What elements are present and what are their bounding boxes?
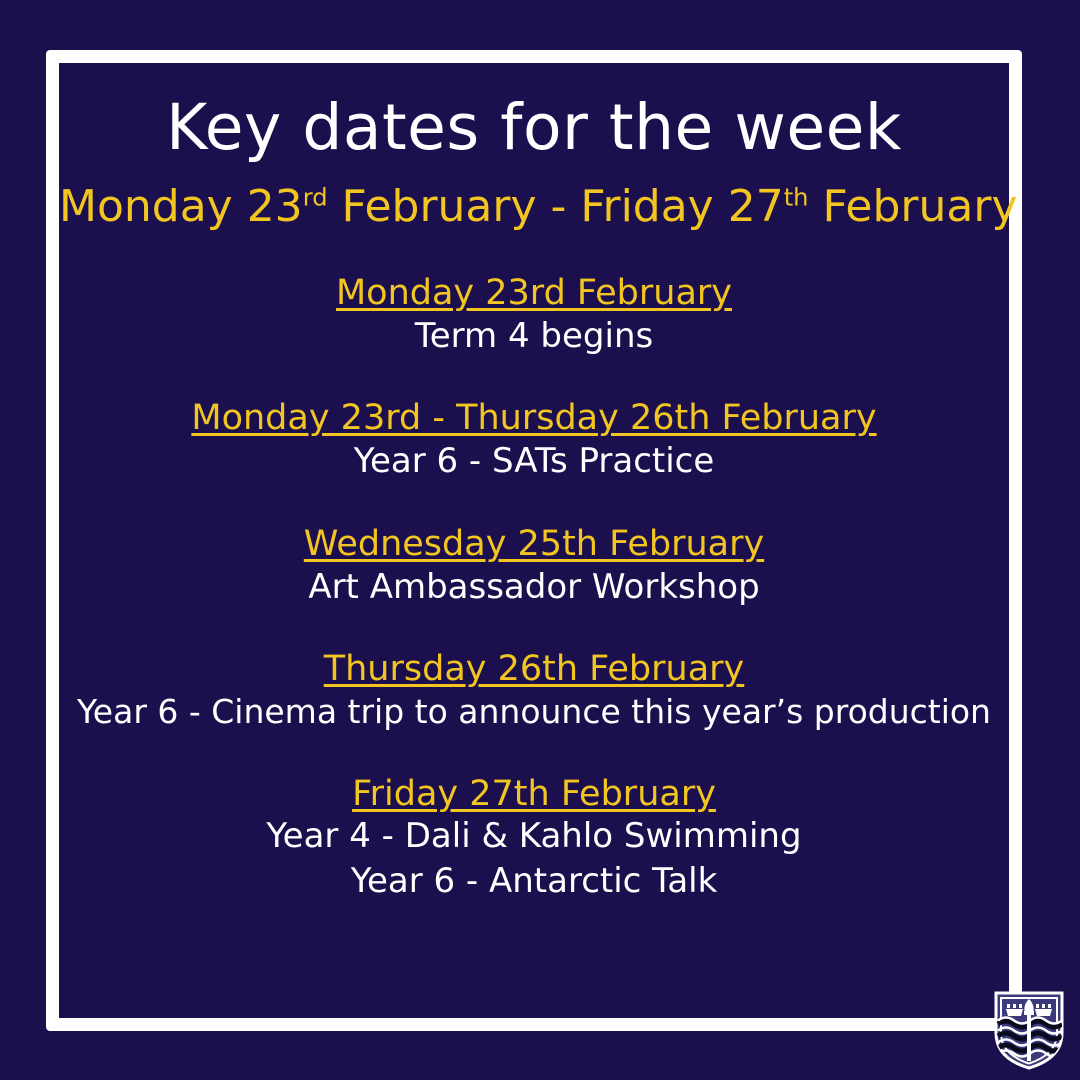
entry-detail-line: Term 4 begins [59, 314, 1009, 359]
entry-detail-line: Year 4 - Dali & Kahlo Swimming [59, 814, 1009, 859]
school-crest-shield-icon [990, 987, 1068, 1073]
entry-detail-line: Art Ambassador Workshop [59, 565, 1009, 610]
list-item: Thursday 26th February Year 6 - Cinema t… [59, 649, 1009, 733]
entry-detail-line: Year 6 - Antarctic Talk [59, 859, 1009, 904]
subtitle-prefix: Monday 23 [59, 181, 303, 232]
entry-detail-line: Year 6 - Cinema trip to announce this ye… [59, 690, 1009, 734]
entry-date-heading: Wednesday 25th February [59, 524, 1009, 565]
key-dates-list: Monday 23rd February Term 4 begins Monda… [59, 273, 1009, 904]
entry-date-heading: Thursday 26th February [59, 649, 1009, 690]
poster-content: Key dates for the week Monday 23rd Febru… [59, 63, 1009, 1018]
subtitle-middle: February - Friday 27 [328, 181, 784, 232]
subtitle-suffix: February [809, 181, 1018, 232]
list-item: Monday 23rd February Term 4 begins [59, 273, 1009, 358]
date-range-subtitle: Monday 23rd February - Friday 27th Febru… [59, 159, 1009, 229]
list-item: Monday 23rd - Thursday 26th February Yea… [59, 398, 1009, 483]
subtitle-ordinal-first: rd [303, 183, 328, 211]
entry-date-heading: Monday 23rd - Thursday 26th February [59, 398, 1009, 439]
poster-canvas: Key dates for the week Monday 23rd Febru… [0, 0, 1080, 1080]
subtitle-ordinal-second: th [784, 183, 809, 211]
list-item: Friday 27th February Year 4 - Dali & Kah… [59, 774, 1009, 904]
entry-date-heading: Friday 27th February [59, 774, 1009, 815]
page-title: Key dates for the week [59, 63, 1009, 159]
entry-detail-line: Year 6 - SATs Practice [59, 439, 1009, 484]
list-item: Wednesday 25th February Art Ambassador W… [59, 524, 1009, 609]
entry-date-heading: Monday 23rd February [59, 273, 1009, 314]
